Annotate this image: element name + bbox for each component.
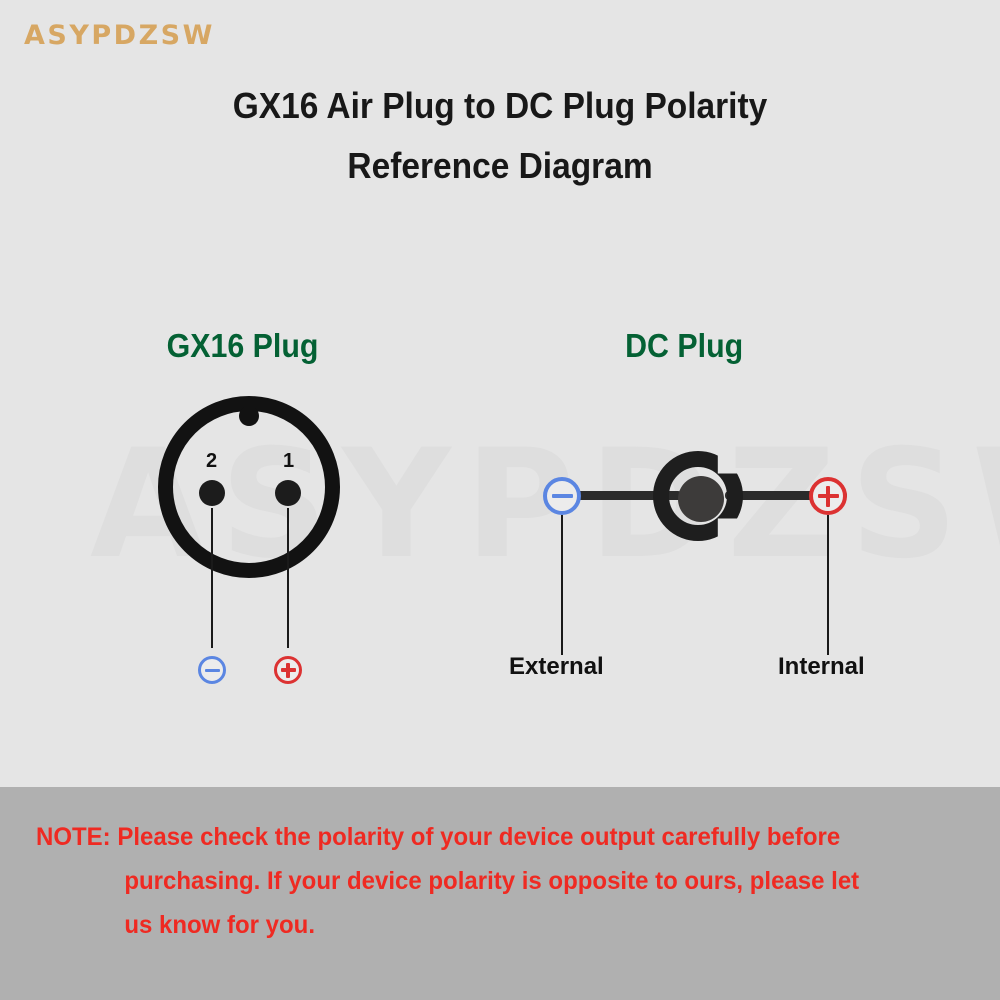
minus-bar (552, 494, 573, 498)
gx16-pin-1-leader-line (287, 508, 289, 648)
dc-section-heading: DC Plug (625, 327, 743, 365)
gx16-pin-1-number: 1 (283, 450, 294, 473)
gx16-pin-2-socket (199, 480, 225, 506)
gx16-positive-polarity-icon (274, 656, 302, 684)
plus-bar-vertical (826, 486, 831, 507)
gx16-negative-polarity-icon (198, 656, 226, 684)
diagram-page: ASYPDZSW ASYPDZSW GX16 Air Plug to DC Pl… (0, 0, 1000, 1000)
dc-negative-polarity-icon (543, 477, 581, 515)
page-title: GX16 Air Plug to DC Plug Polarity Refere… (35, 76, 965, 196)
gx16-section-heading: GX16 Plug (167, 327, 319, 365)
note-band: NOTE: Please check the polarity of your … (0, 787, 1000, 1000)
gx16-pin-2-number: 2 (206, 450, 217, 473)
gx16-alignment-notch-icon (239, 406, 259, 426)
gx16-pin-1-socket (275, 480, 301, 506)
note-text: NOTE: Please check the polarity of your … (36, 815, 929, 947)
gx16-connector-illustration: 2 1 (150, 392, 370, 592)
note-line-2: purchasing. If your device polarity is o… (36, 859, 929, 903)
brand-logo: ASYPDZSW (24, 20, 215, 51)
dc-internal-label: Internal (778, 653, 865, 681)
note-line-3: us know for you. (36, 903, 929, 947)
gx16-pin-2-leader-line (211, 508, 213, 648)
dc-positive-polarity-icon (809, 477, 847, 515)
dc-external-label: External (509, 653, 604, 681)
page-title-line-1: GX16 Air Plug to DC Plug Polarity (35, 76, 965, 136)
minus-bar (205, 669, 220, 672)
dc-internal-leader-line (827, 515, 829, 655)
dc-barrel-inner-pin (678, 476, 724, 522)
page-title-line-2: Reference Diagram (35, 136, 965, 196)
dc-external-leader-line (561, 515, 563, 655)
plus-bar-vertical (286, 663, 290, 678)
note-line-1: NOTE: Please check the polarity of your … (36, 815, 929, 859)
